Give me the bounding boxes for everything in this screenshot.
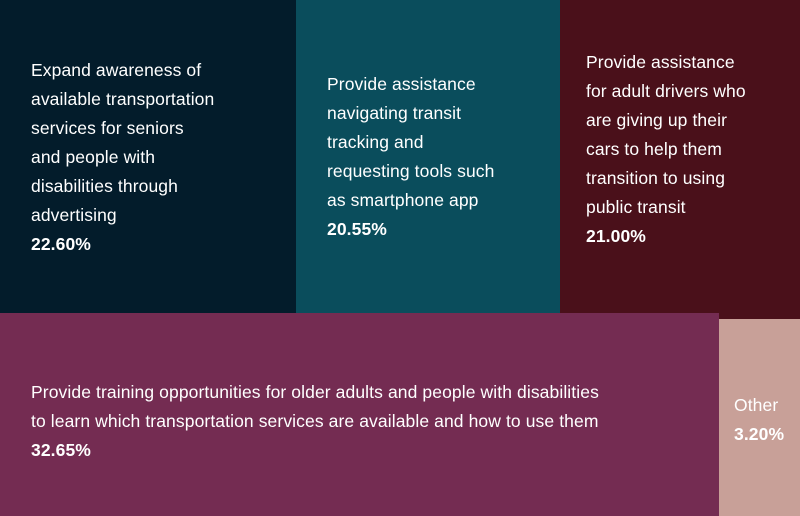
tile-label-other: Other (734, 391, 794, 420)
tile-label-awareness: Expand awareness of available transporta… (31, 56, 284, 230)
tile-content-other: Other 3.20% (734, 391, 794, 449)
treemap-tile-other[interactable]: Other 3.20% (719, 319, 800, 516)
tile-content-awareness: Expand awareness of available transporta… (31, 56, 284, 259)
tile-value-driver-transition: 21.00% (586, 222, 790, 251)
tile-label-navigation: Provide assistance navigating transit tr… (327, 70, 548, 215)
tile-value-other: 3.20% (734, 420, 794, 449)
treemap-tile-training[interactable]: Provide training opportunities for older… (0, 313, 719, 516)
tile-content-driver-transition: Provide assistance for adult drivers who… (586, 48, 790, 251)
tile-label-training: Provide training opportunities for older… (31, 378, 699, 436)
treemap-tile-awareness[interactable]: Expand awareness of available transporta… (0, 0, 296, 313)
tile-value-awareness: 22.60% (31, 230, 284, 259)
treemap-chart: Expand awareness of available transporta… (0, 0, 800, 516)
treemap-tile-navigation[interactable]: Provide assistance navigating transit tr… (296, 0, 560, 313)
tile-value-training: 32.65% (31, 436, 699, 465)
tile-content-training: Provide training opportunities for older… (31, 378, 699, 465)
tile-value-navigation: 20.55% (327, 215, 548, 244)
tile-label-driver-transition: Provide assistance for adult drivers who… (586, 48, 790, 222)
treemap-tile-driver-transition[interactable]: Provide assistance for adult drivers who… (560, 0, 800, 319)
tile-content-navigation: Provide assistance navigating transit tr… (327, 70, 548, 244)
